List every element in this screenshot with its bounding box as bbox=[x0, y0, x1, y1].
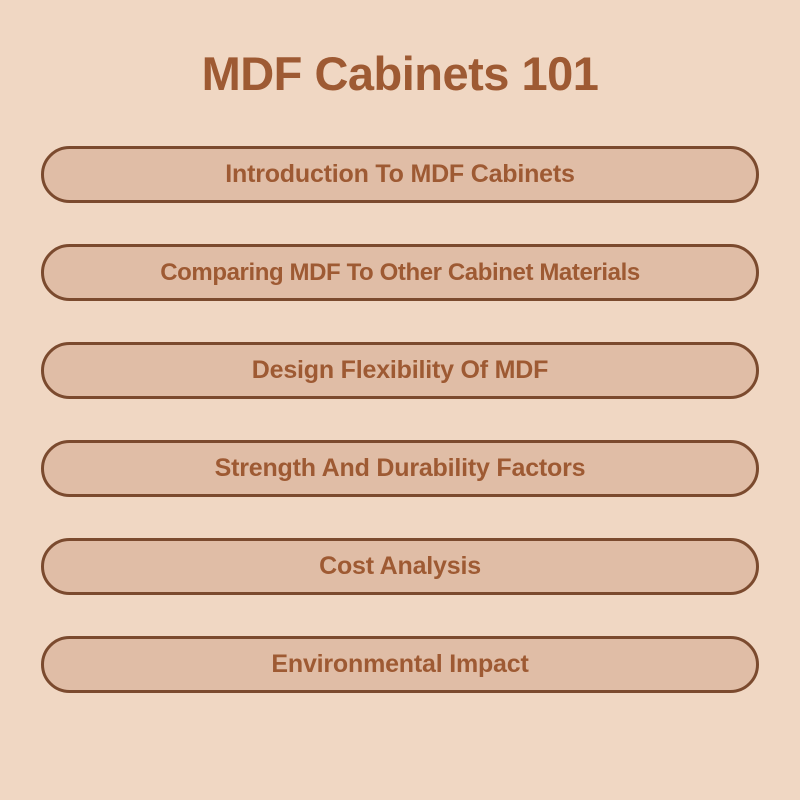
section-pill-strength-and-durability-factors[interactable]: Strength And Durability Factors bbox=[41, 440, 759, 497]
section-pill-design-flexibility-of-mdf[interactable]: Design Flexibility Of MDF bbox=[41, 342, 759, 399]
section-list: Introduction To MDF Cabinets Comparing M… bbox=[41, 146, 759, 693]
section-pill-label: Strength And Durability Factors bbox=[215, 456, 586, 481]
section-pill-label: Comparing MDF To Other Cabinet Materials bbox=[160, 261, 640, 285]
section-pill-cost-analysis[interactable]: Cost Analysis bbox=[41, 538, 759, 595]
page-title: MDF Cabinets 101 bbox=[0, 0, 800, 146]
section-pill-label: Design Flexibility Of MDF bbox=[252, 358, 548, 383]
infographic-root: MDF Cabinets 101 Introduction To MDF Cab… bbox=[0, 0, 800, 800]
section-pill-label: Introduction To MDF Cabinets bbox=[225, 162, 574, 187]
section-pill-comparing-mdf-to-other-cabinet-materials[interactable]: Comparing MDF To Other Cabinet Materials bbox=[41, 244, 759, 301]
section-pill-label: Environmental Impact bbox=[271, 652, 528, 677]
section-pill-environmental-impact[interactable]: Environmental Impact bbox=[41, 636, 759, 693]
section-pill-introduction-to-mdf-cabinets[interactable]: Introduction To MDF Cabinets bbox=[41, 146, 759, 203]
section-pill-label: Cost Analysis bbox=[319, 554, 481, 579]
